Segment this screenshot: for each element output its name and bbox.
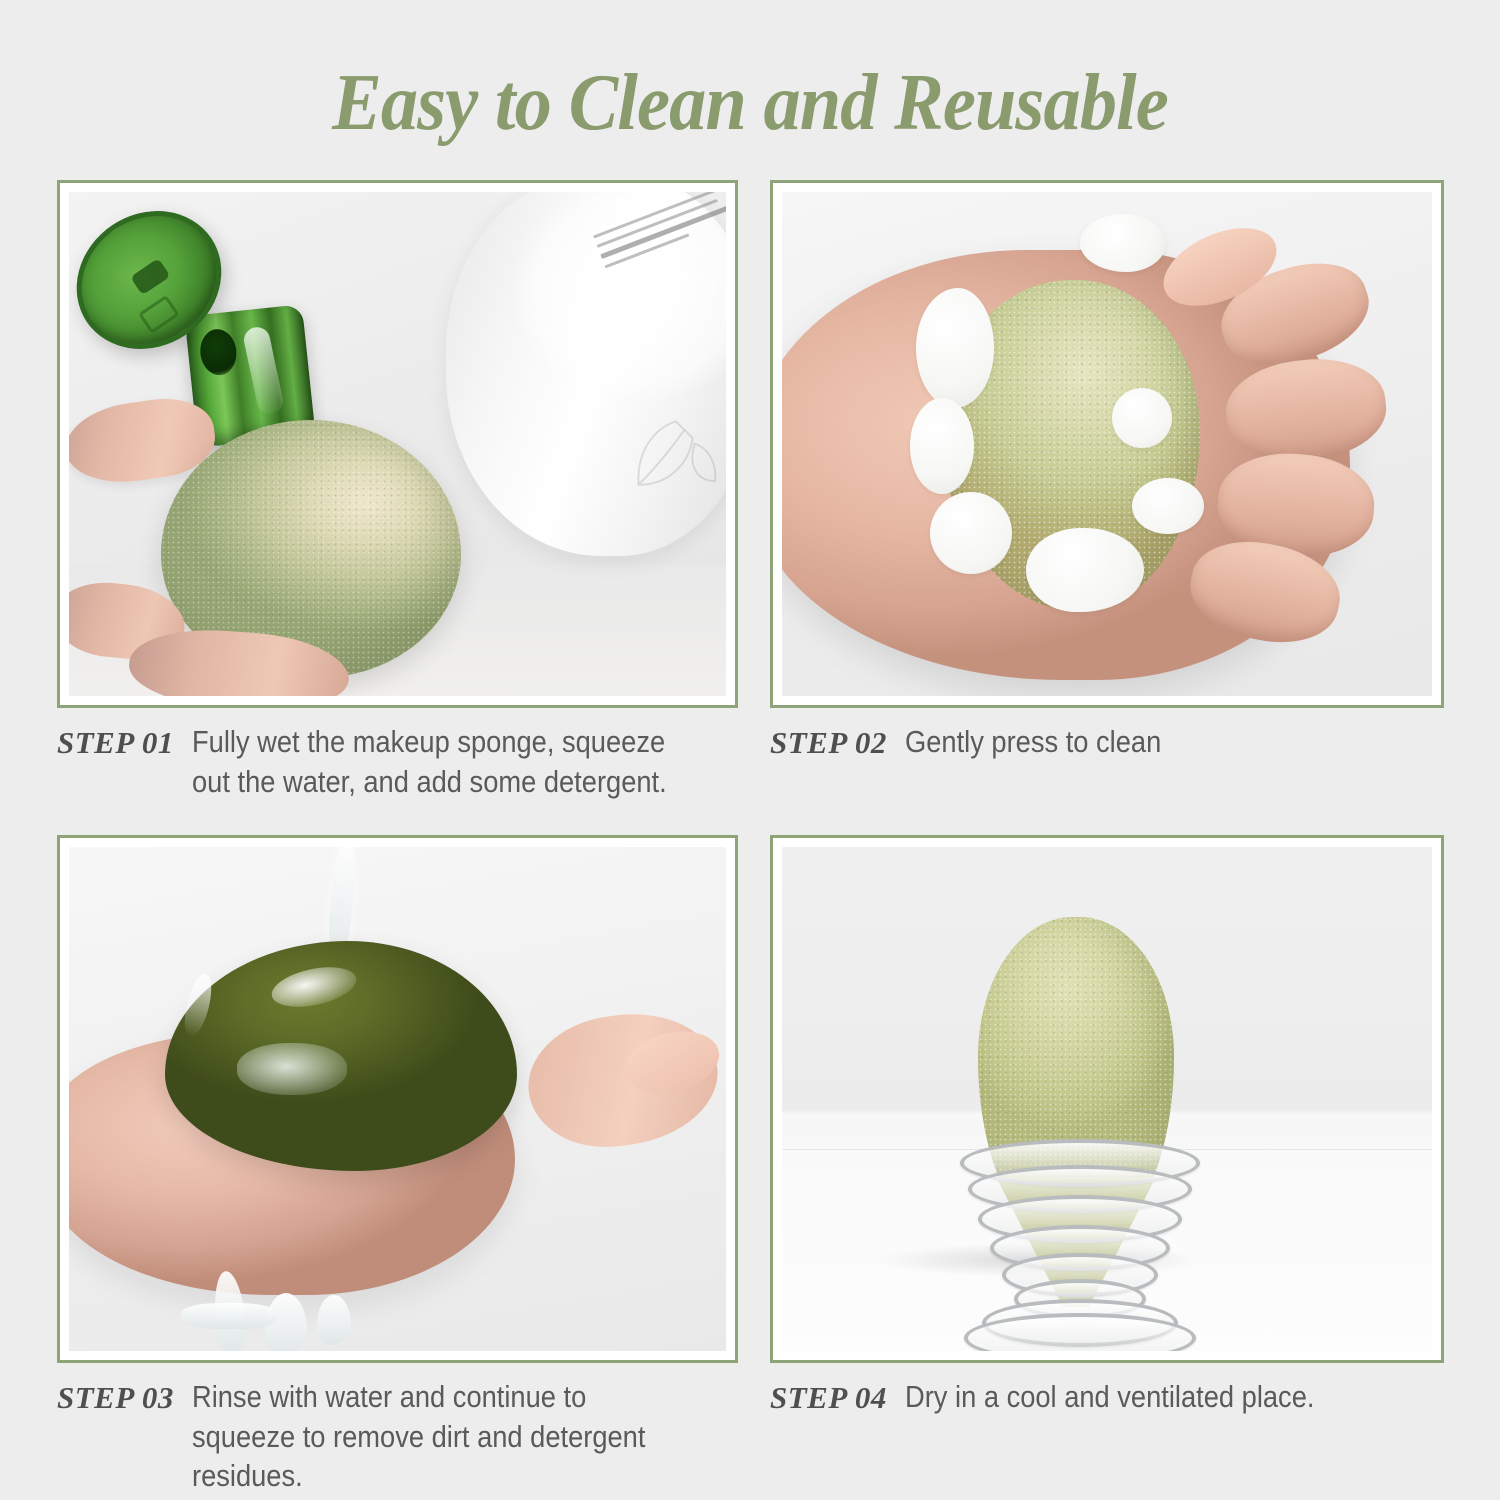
detergent-bottle — [446, 192, 726, 556]
step-03-image-frame — [57, 835, 738, 1363]
water-droplet — [317, 1295, 351, 1345]
photo-press-to-clean — [782, 192, 1432, 696]
step-02-text: Gently press to clean — [905, 722, 1379, 762]
cap-highlight — [242, 325, 286, 416]
step-01-label: STEP 01 — [57, 722, 174, 761]
step-02-caption: STEP 02 Gently press to clean — [770, 722, 1444, 762]
step-01-image-frame — [57, 180, 738, 708]
sponge-highlight — [237, 1043, 347, 1095]
step-04-text: Dry in a cool and ventilated place. — [905, 1377, 1379, 1417]
water-droplet — [181, 1303, 277, 1329]
step-02-label: STEP 02 — [770, 722, 887, 761]
step-04-image-frame — [770, 835, 1444, 1363]
step-04-label: STEP 04 — [770, 1377, 887, 1416]
photo-wet-sponge-add-detergent — [69, 192, 726, 696]
step-03-text: Rinse with water and continue to squeeze… — [192, 1377, 673, 1496]
photo-dry-on-holder — [782, 847, 1432, 1351]
step-card-04: STEP 04 Dry in a cool and ventilated pla… — [770, 835, 1444, 1417]
step-card-02: STEP 02 Gently press to clean — [770, 180, 1444, 762]
step-01-caption: STEP 01 Fully wet the makeup sponge, squ… — [57, 722, 738, 801]
soap-foam — [1112, 388, 1172, 448]
soap-foam — [930, 492, 1012, 574]
step-03-label: STEP 03 — [57, 1377, 174, 1416]
step-04-caption: STEP 04 Dry in a cool and ventilated pla… — [770, 1377, 1444, 1417]
leaf-graphic-icon — [626, 412, 722, 496]
bottle-label-text — [590, 192, 726, 295]
photo-rinse-with-water — [69, 847, 726, 1351]
step-02-image-frame — [770, 180, 1444, 708]
step-card-01: STEP 01 Fully wet the makeup sponge, squ… — [57, 180, 738, 801]
step-01-text: Fully wet the makeup sponge, squeeze out… — [192, 722, 673, 801]
soap-foam — [916, 288, 994, 408]
lid-embossed-mark — [130, 258, 170, 295]
soap-foam — [1080, 214, 1166, 272]
lid-embossed-symbol — [138, 295, 180, 334]
product-infographic: Easy to Clean and Reusable — [0, 0, 1500, 1500]
page-title: Easy to Clean and Reusable — [53, 58, 1448, 149]
step-03-caption: STEP 03 Rinse with water and continue to… — [57, 1377, 738, 1496]
step-card-03: STEP 03 Rinse with water and continue to… — [57, 835, 738, 1496]
soap-foam — [1132, 478, 1204, 534]
soap-foam — [910, 398, 974, 494]
